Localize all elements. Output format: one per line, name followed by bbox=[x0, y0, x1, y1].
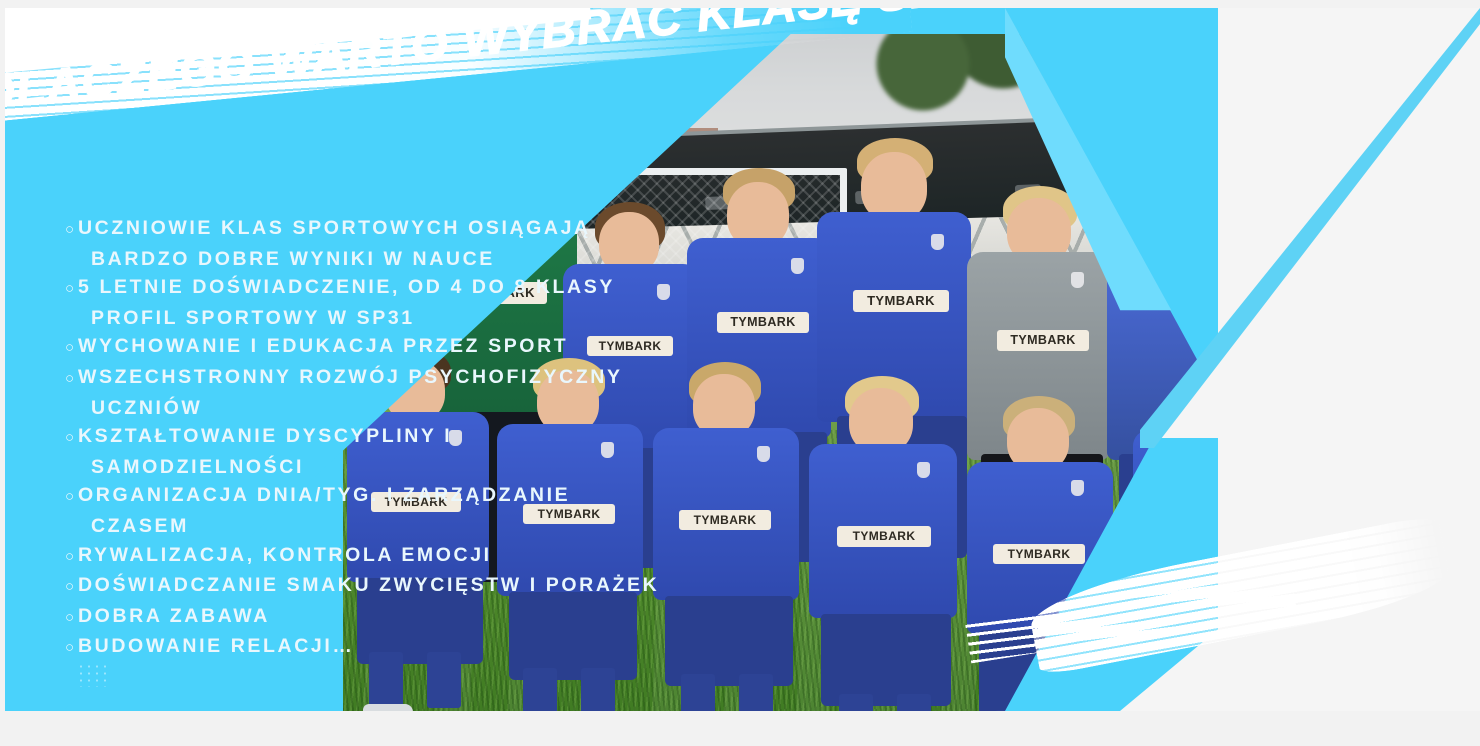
bullet-marker: ○ bbox=[65, 604, 78, 633]
bullet-marker: ○ bbox=[65, 365, 78, 394]
slide-root: TYMBARK TYMBARK bbox=[0, 0, 1480, 746]
list-item: ○BUDOWANIE RELACJI… bbox=[65, 632, 705, 663]
frame-top bbox=[0, 0, 1480, 8]
frame-bottom bbox=[0, 711, 1480, 746]
bullet-marker: ○ bbox=[65, 216, 78, 245]
dot-grid-decoration bbox=[77, 663, 107, 687]
bullet-marker: ○ bbox=[65, 334, 78, 363]
list-item-text-cont: CZASEM bbox=[78, 512, 705, 541]
benefits-list: ○UCZNIOWIE KLAS SPORTOWYCH OSIĄGAJĄ BARD… bbox=[65, 214, 705, 663]
list-item: ○ORGANIZACJA DNIA/TYG. I ZARZĄDZANIE CZA… bbox=[65, 481, 705, 540]
list-item-text: KSZTAŁTOWANIE DYSCYPLINY I bbox=[78, 425, 452, 447]
list-item-text-cont: PROFIL SPORTOWY W SP31 bbox=[78, 304, 705, 333]
list-item-text: WYCHOWANIE I EDUKACJA PRZEZ SPORT bbox=[78, 335, 568, 357]
list-item: ○WYCHOWANIE I EDUKACJA PRZEZ SPORT bbox=[65, 332, 705, 363]
list-item-text-cont: SAMODZIELNOŚCI bbox=[78, 453, 705, 482]
bullet-marker: ○ bbox=[65, 634, 78, 663]
bullet-marker: ○ bbox=[65, 275, 78, 304]
list-item-text: DOŚWIADCZANIE SMAKU ZWYCIĘSTW I PORAŻEK bbox=[78, 574, 659, 596]
list-item: ○UCZNIOWIE KLAS SPORTOWYCH OSIĄGAJĄ BARD… bbox=[65, 214, 705, 273]
list-item: ○WSZECHSTRONNY ROZWÓJ PSYCHOFIZYCZNY UCZ… bbox=[65, 363, 705, 422]
list-item-text: WSZECHSTRONNY ROZWÓJ PSYCHOFIZYCZNY bbox=[78, 366, 623, 388]
list-item: ○5 LETNIE DOŚWIADCZENIE, OD 4 DO 8 KLASY… bbox=[65, 273, 705, 332]
slide-canvas: TYMBARK TYMBARK bbox=[5, 8, 1480, 711]
bullet-marker: ○ bbox=[65, 573, 78, 602]
list-item: ○DOBRA ZABAWA bbox=[65, 602, 705, 633]
list-item: ○DOŚWIADCZANIE SMAKU ZWYCIĘSTW I PORAŻEK bbox=[65, 571, 705, 602]
bullet-marker: ○ bbox=[65, 424, 78, 453]
list-item: ○RYWALIZACJA, KONTROLA EMOCJI bbox=[65, 541, 705, 572]
list-item-text: ORGANIZACJA DNIA/TYG. I ZARZĄDZANIE bbox=[78, 484, 570, 506]
list-item-text: UCZNIOWIE KLAS SPORTOWYCH OSIĄGAJĄ bbox=[78, 217, 591, 239]
list-item-text-cont: BARDZO DOBRE WYNIKI W NAUCE bbox=[78, 245, 705, 274]
list-item-text-cont: UCZNIÓW bbox=[78, 394, 705, 423]
list-item-text: BUDOWANIE RELACJI… bbox=[78, 635, 354, 657]
player: TYMBARK bbox=[813, 380, 955, 711]
list-item-text: 5 LETNIE DOŚWIADCZENIE, OD 4 DO 8 KLASY bbox=[78, 276, 615, 298]
list-item-text: DOBRA ZABAWA bbox=[78, 605, 270, 627]
bullet-marker: ○ bbox=[65, 543, 78, 572]
list-item: ○KSZTAŁTOWANIE DYSCYPLINY I SAMODZIELNOŚ… bbox=[65, 422, 705, 481]
list-item-text: RYWALIZACJA, KONTROLA EMOCJI bbox=[78, 544, 492, 566]
bullet-marker: ○ bbox=[65, 483, 78, 512]
frame-left bbox=[0, 0, 5, 746]
